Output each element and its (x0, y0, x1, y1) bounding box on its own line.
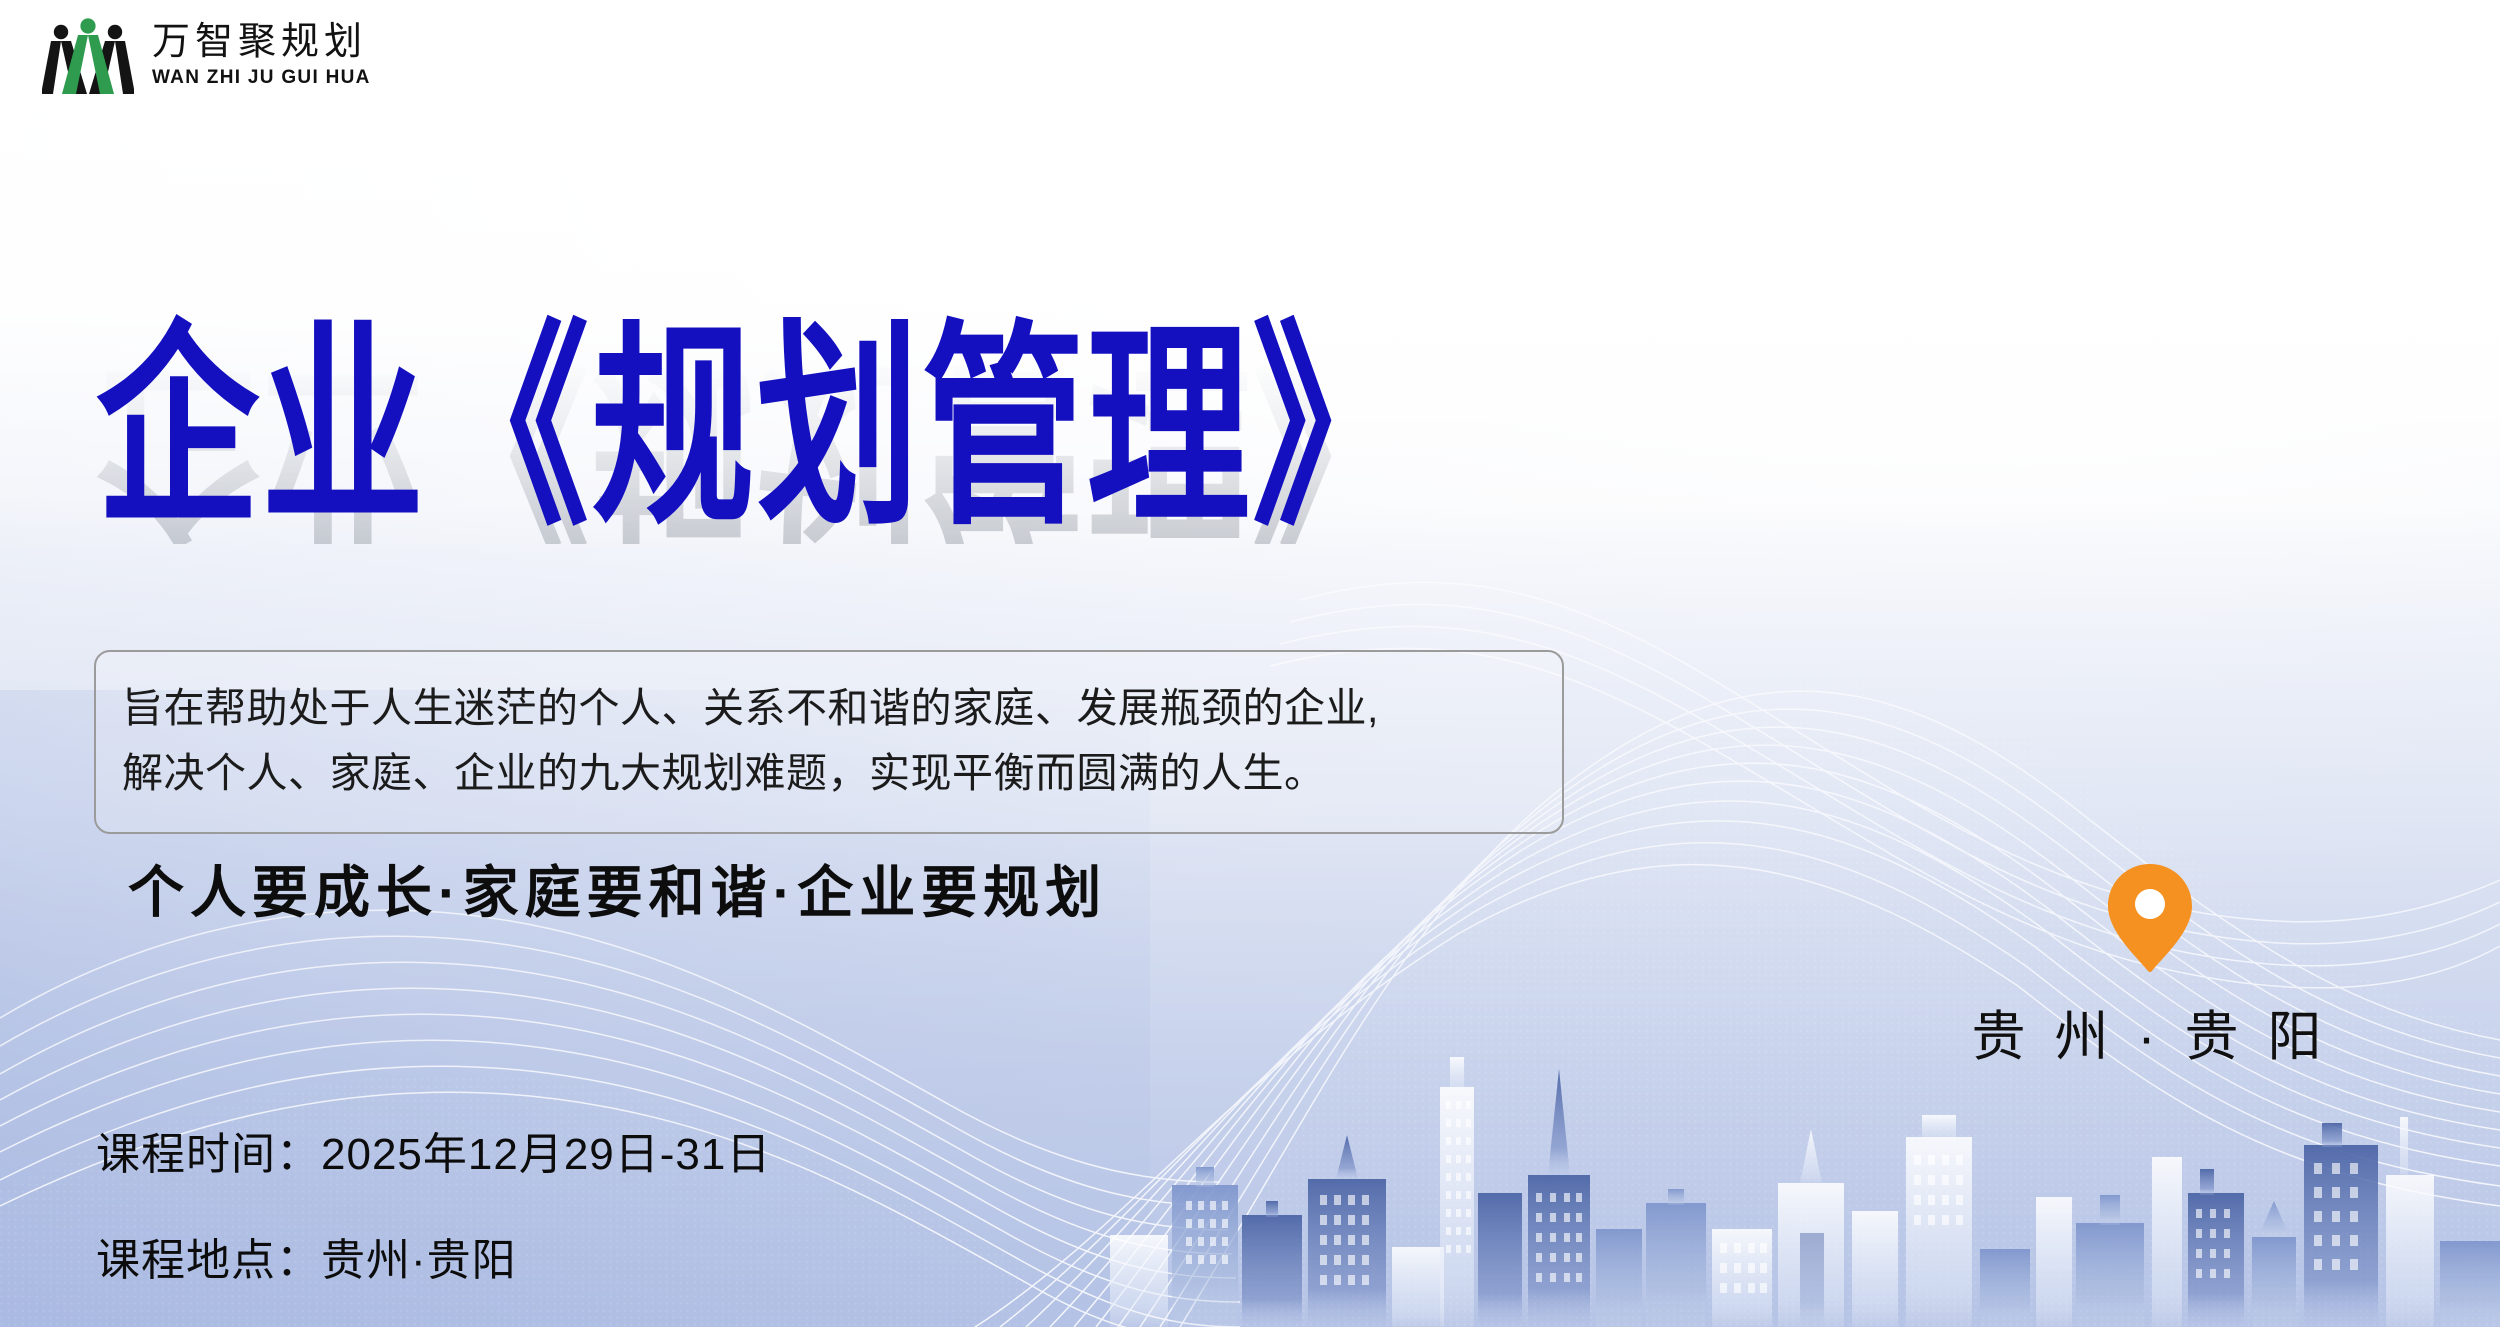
three-people-logo-icon (42, 16, 134, 94)
slogan-text: 个人要成长·家庭要和谐·企业要规划 (128, 848, 1107, 929)
location-group: 贵 州 · 贵 阳 (1960, 862, 2340, 1071)
description-line-2: 解决个人、家庭、企业的九大规划难题，实现平衡而圆满的人生。 (122, 741, 1536, 806)
brand-wordmark: 万智聚规划 WAN ZHI JU GUI HUA (152, 23, 371, 87)
description-line-1: 旨在帮助处于人生迷茫的个人、关系不和谐的家庭、发展瓶颈的企业, (122, 676, 1536, 741)
brand-name-pinyin: WAN ZHI JU GUI HUA (152, 68, 371, 87)
brand-logo: 万智聚规划 WAN ZHI JU GUI HUA (42, 16, 371, 94)
course-info: 课程时间：2025年12月29日-31日 课程地点：贵州·贵阳 (96, 1118, 771, 1288)
location-label: 贵 州 · 贵 阳 (1960, 992, 2340, 1071)
page-title: 企业《规划管理》 (96, 320, 1594, 538)
course-venue: 课程地点：贵州·贵阳 (96, 1224, 771, 1288)
description-box: 旨在帮助处于人生迷茫的个人、关系不和谐的家庭、发展瓶颈的企业, 解决个人、家庭、… (94, 650, 1564, 834)
course-date: 课程时间：2025年12月29日-31日 (96, 1118, 771, 1182)
brand-name-cn: 万智聚规划 (152, 23, 371, 61)
poster-canvas: 万智聚规划 WAN ZHI JU GUI HUA 企业《规划管理》 企业《规划管… (0, 0, 2500, 1327)
map-pin-icon (2104, 862, 2196, 974)
hero-title-zone: 企业《规划管理》 企业《规划管理》 (96, 320, 1656, 650)
